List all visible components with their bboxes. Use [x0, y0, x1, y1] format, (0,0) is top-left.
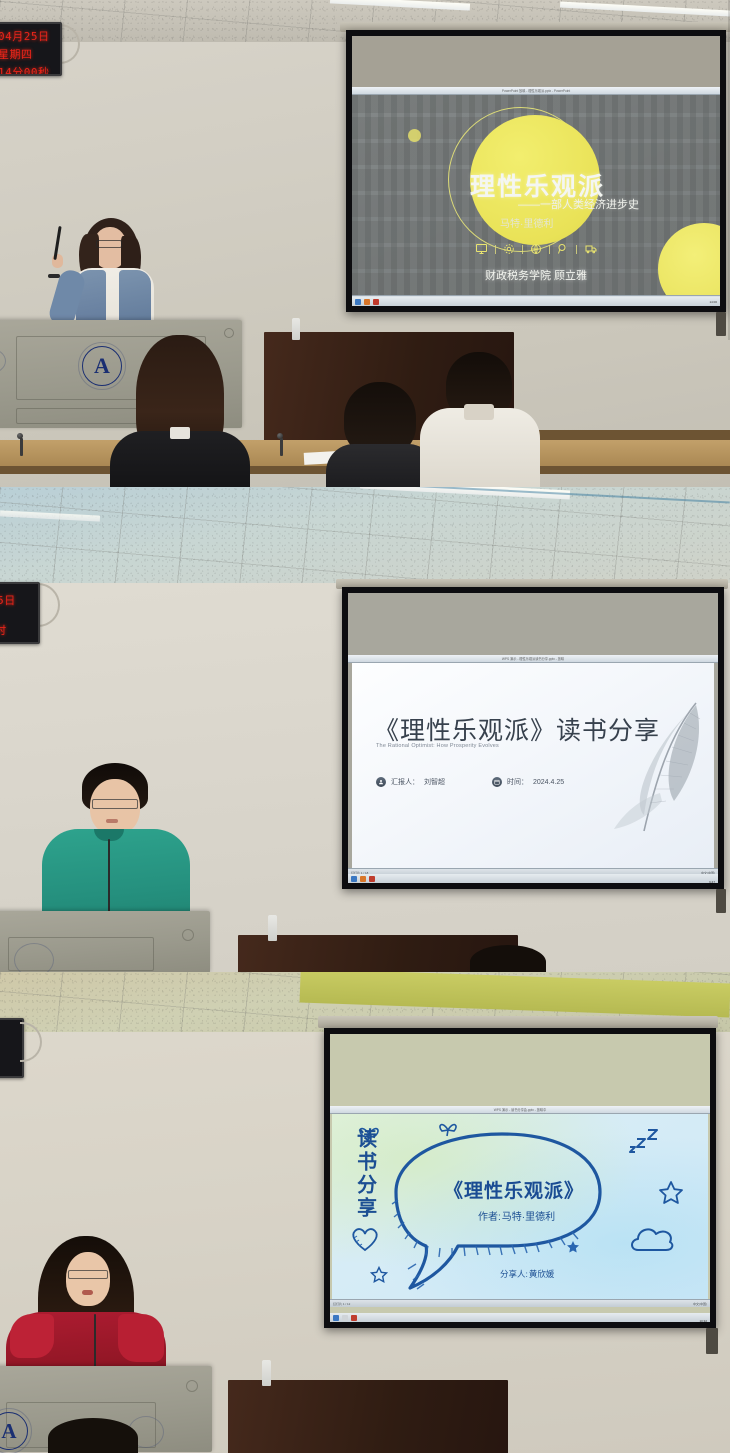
zzz-icon — [628, 1128, 660, 1154]
screen-surface: PowerPoint 放映 - 理性乐观派.pptx - PowerPoint … — [352, 36, 720, 306]
screen-mount-foot — [716, 312, 726, 336]
ceiling-speckle — [0, 487, 730, 583]
desk-microphone — [20, 438, 23, 456]
butterfly-icon — [436, 1118, 460, 1140]
third-presentation-photo: WPS 演示 - 读书分享会.pptx - 放映中 — [0, 972, 730, 1453]
water-bottle — [262, 1360, 271, 1386]
led-line-1: 04月25日 — [0, 28, 60, 44]
slide-subtitle-en: The Rational Optimist: How Prosperity Ev… — [376, 743, 499, 749]
slide-sharer-line: 分享人: 黄欣媛 — [500, 1268, 554, 1280]
meta-label: 时间： — [507, 777, 528, 787]
wristband — [48, 274, 60, 278]
heart-icon — [350, 1226, 380, 1252]
windows-taskbar[interactable]: 14:00 — [352, 297, 720, 306]
screen-housing — [318, 1016, 718, 1028]
taskbar-start-icon[interactable] — [333, 1315, 339, 1321]
emblem-faint-left — [0, 348, 6, 374]
calendar-icon — [492, 777, 502, 787]
podium-knob — [182, 929, 194, 941]
water-bottle — [292, 318, 300, 340]
projector-screen: WPS 演示 - 理性乐观派读书分享.pptx - 放映 — [342, 587, 724, 889]
emblem-outline — [14, 943, 54, 972]
gear-icon — [503, 243, 515, 255]
wooden-door — [228, 1380, 508, 1453]
glasses — [68, 1270, 108, 1279]
meta-value: 2024.4.25 — [533, 779, 564, 786]
hair — [48, 1418, 138, 1453]
icon-separator — [522, 245, 523, 254]
audience-head — [48, 1418, 138, 1453]
sharer-name: 黄欣媛 — [529, 1268, 555, 1280]
slide-author: 马特·里德利 — [500, 215, 553, 230]
taskbar-app-icon[interactable] — [342, 1315, 348, 1321]
slide-icon-row — [352, 243, 720, 255]
blouse-ruffle-left — [10, 1314, 54, 1358]
projector-screen: PowerPoint 放映 - 理性乐观派.pptx - PowerPoint … — [346, 30, 726, 312]
taskbar-clock: 10:32 — [699, 1319, 707, 1323]
ppt-status-bar[interactable]: 幻灯片 1 / 12 中文(中国) — [330, 1299, 710, 1307]
ppt-titlebar[interactable]: WPS 演示 - 理性乐观派读书分享.pptx - 放映 — [348, 655, 718, 663]
led-line-3: 14分00秒 — [0, 64, 60, 76]
taskbar-app-icon[interactable] — [351, 1315, 357, 1321]
magnifier-icon — [557, 243, 569, 255]
slide-2: 《理性乐观派》读书分享 The Rational Optimist: How P… — [352, 663, 714, 868]
taskbar-start-icon[interactable] — [355, 299, 361, 305]
windows-taskbar[interactable]: 10:32 — [330, 1313, 710, 1322]
audience-woman-black-jacket — [104, 335, 254, 487]
glasses — [96, 240, 122, 248]
ppt-status-right: 中文(中国) — [693, 1302, 707, 1306]
first-presentation-photo: 04月25日 星期四 14分00秒 PowerPoint 放映 - 理性乐观派.… — [0, 0, 730, 487]
slide-footer: 财政税务学院 顾立雅 — [352, 267, 720, 283]
globe-icon — [530, 243, 542, 255]
mouth — [82, 1290, 93, 1295]
screen-mount-foot — [716, 889, 726, 913]
audience-man-white-shirt — [416, 352, 542, 487]
ppt-titlebar[interactable]: WPS 演示 - 读书分享会.pptx - 放映中 — [330, 1106, 710, 1114]
head — [66, 1252, 110, 1306]
truck-icon — [584, 243, 598, 255]
sharer-label: 分享人: — [500, 1268, 528, 1280]
led-clock-display: 04月25日 星期四 14分00秒 — [0, 22, 62, 76]
monitor-icon — [475, 243, 488, 255]
lectern-podium — [0, 911, 210, 972]
slide-author-line: 作者: 马特·里德利 — [478, 1208, 555, 1223]
podium-microphone — [108, 839, 110, 919]
led-line-2: 星期四 — [0, 46, 60, 62]
mouth — [106, 819, 118, 823]
author-label: 作者: — [478, 1208, 501, 1223]
slide-meta-presenter: 汇报人： 刘智超 — [376, 777, 445, 787]
ppt-titlebar-text: PowerPoint 放映 - 理性乐观派.pptx - PowerPoint — [352, 87, 720, 95]
ppt-titlebar[interactable]: PowerPoint 放映 - 理性乐观派.pptx - PowerPoint — [352, 87, 720, 95]
taskbar-clock: 9:47 — [709, 880, 715, 884]
slide-subtitle: ——一部人类经济进步史 — [518, 196, 639, 212]
desk-edge — [522, 430, 730, 440]
led-clock-display: 25日 9时 — [0, 582, 40, 644]
led-line-2: 9时 — [0, 622, 38, 638]
taskbar-app-icon[interactable] — [360, 876, 366, 882]
ppt-status-left: 幻灯片 1 / 12 — [333, 1302, 350, 1306]
taskbar-start-icon[interactable] — [351, 876, 357, 882]
hair — [470, 945, 546, 972]
taskbar-tray[interactable]: 14:00 — [709, 300, 717, 304]
person-icon — [376, 777, 386, 787]
icon-separator — [495, 245, 496, 254]
ppt-titlebar-text: WPS 演示 - 理性乐观派读书分享.pptx - 放映 — [348, 655, 718, 663]
icon-separator — [576, 245, 577, 254]
screen-mount-foot — [706, 1328, 718, 1354]
photo-collage: 04月25日 星期四 14分00秒 PowerPoint 放映 - 理性乐观派.… — [0, 0, 730, 1453]
star-icon — [566, 1240, 580, 1254]
cloud-icon — [628, 1222, 676, 1256]
star-icon — [370, 1266, 388, 1284]
taskbar-app-icon[interactable] — [369, 876, 375, 882]
star-icon — [658, 1180, 684, 1206]
presenter-woman-denim — [62, 218, 172, 333]
screen-surface: WPS 演示 - 读书分享会.pptx - 放映中 — [330, 1034, 710, 1322]
audience-head — [470, 945, 546, 972]
slide-meta-date: 时间： 2024.4.25 — [492, 777, 564, 787]
collar — [464, 404, 494, 420]
desk-microphone — [280, 438, 283, 456]
slide-1: 理性乐观派 ——一部人类经济进步史 马特·里德利 财政税务 — [352, 95, 720, 295]
windows-taskbar[interactable]: 9:47 — [348, 874, 718, 883]
water-bottle — [268, 915, 277, 941]
taskbar-tray[interactable]: 10:32 — [699, 1309, 707, 1323]
microphone-head — [277, 433, 283, 439]
slide-vertical-title: 读书分享 — [352, 1128, 376, 1220]
taskbar-tray[interactable]: 9:47 — [709, 870, 715, 884]
microphone-head — [17, 433, 23, 439]
ppt-titlebar-text: WPS 演示 - 读书分享会.pptx - 放映中 — [330, 1106, 710, 1114]
presenter-man-green-shirt — [28, 763, 200, 935]
led-line-1: 25日 — [0, 592, 38, 608]
slide-3: 读书分享 《理性乐观派》 作者: 马特·里德利 分享人: 黄欣媛 — [332, 1114, 708, 1299]
taskbar-app-icon[interactable] — [364, 299, 370, 305]
meta-value: 刘智超 — [424, 777, 445, 787]
slide-title: 《理性乐观派》 — [444, 1176, 584, 1203]
second-presentation-photo: 25日 9时 WPS 演示 - 理性乐观派读书分享.pptx - 放映 — [0, 487, 730, 972]
blouse-ruffle-right — [118, 1314, 164, 1362]
glasses — [92, 799, 138, 809]
black-jacket — [110, 431, 250, 487]
decorative-dot — [408, 129, 421, 142]
taskbar-clock: 14:00 — [709, 300, 717, 304]
meta-label: 汇报人： — [391, 777, 419, 787]
podium-knob — [186, 1380, 198, 1392]
slide-title: 《理性乐观派》读书分享 — [374, 711, 660, 747]
icon-separator — [549, 245, 550, 254]
ceiling — [0, 487, 730, 583]
taskbar-app-icon[interactable] — [373, 299, 379, 305]
screen-surface: WPS 演示 - 理性乐观派读书分享.pptx - 放映 — [348, 593, 718, 883]
collar — [170, 427, 190, 439]
projector-screen: WPS 演示 - 读书分享会.pptx - 放映中 — [324, 1028, 716, 1328]
author-name: 马特·里德利 — [502, 1208, 555, 1223]
